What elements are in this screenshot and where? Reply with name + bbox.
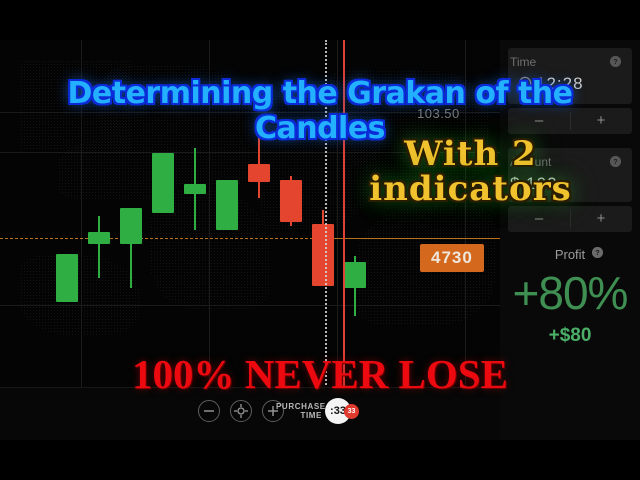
help-icon[interactable]: ? xyxy=(592,247,603,258)
profit-label: Profit xyxy=(500,247,640,262)
help-icon[interactable]: ? xyxy=(610,56,621,67)
strike-price-line-solid xyxy=(333,238,500,239)
overlay-indicator-line1: With 2 xyxy=(358,137,583,172)
crosshair-icon[interactable] xyxy=(230,400,252,422)
zoom-out-icon[interactable] xyxy=(198,400,220,422)
profit-percent: +80% xyxy=(500,266,640,320)
strike-price-line xyxy=(0,238,333,239)
time-label: Time xyxy=(510,55,536,69)
overlay-indicator-text: With 2 indicators xyxy=(358,137,583,206)
purchase-time-line1: PURCHASE xyxy=(276,402,326,411)
candle-body xyxy=(312,224,334,286)
thumbnail-stage: 103.50 103.45 4730 xyxy=(0,0,640,480)
candle-body xyxy=(184,184,206,194)
candle-body xyxy=(248,164,270,182)
amount-decrease-button[interactable]: – xyxy=(508,206,570,232)
candle-body xyxy=(344,262,366,288)
amount-increase-button[interactable]: + xyxy=(570,206,632,232)
candle-body xyxy=(120,208,142,244)
strike-price-badge: 4730 xyxy=(420,244,484,272)
overlay-title: Determining the Grakan of the Candles xyxy=(0,76,640,146)
purchase-time-label: PURCHASE TIME xyxy=(276,402,322,420)
countdown-badge: 33 xyxy=(344,404,359,419)
candle-body xyxy=(280,180,302,222)
overlay-indicator-line2: indicators xyxy=(358,172,583,207)
candle-body xyxy=(88,232,110,244)
divider xyxy=(570,210,571,228)
candle-body xyxy=(152,153,174,213)
help-icon[interactable]: ? xyxy=(610,156,621,167)
candle-body xyxy=(216,180,238,230)
candle-wick xyxy=(98,216,100,278)
profit-amount: +$80 xyxy=(500,325,640,347)
amount-stepper[interactable]: – + xyxy=(508,206,632,232)
overlay-claim-text: 100% NEVER LOSE xyxy=(0,350,640,398)
grid-line-horizontal xyxy=(0,305,500,306)
candle-body xyxy=(56,254,78,302)
svg-text:?: ? xyxy=(595,250,599,257)
map-texture xyxy=(20,255,140,335)
purchase-time-line2: TIME xyxy=(300,411,322,420)
svg-text:?: ? xyxy=(613,159,617,166)
svg-text:?: ? xyxy=(613,59,617,66)
